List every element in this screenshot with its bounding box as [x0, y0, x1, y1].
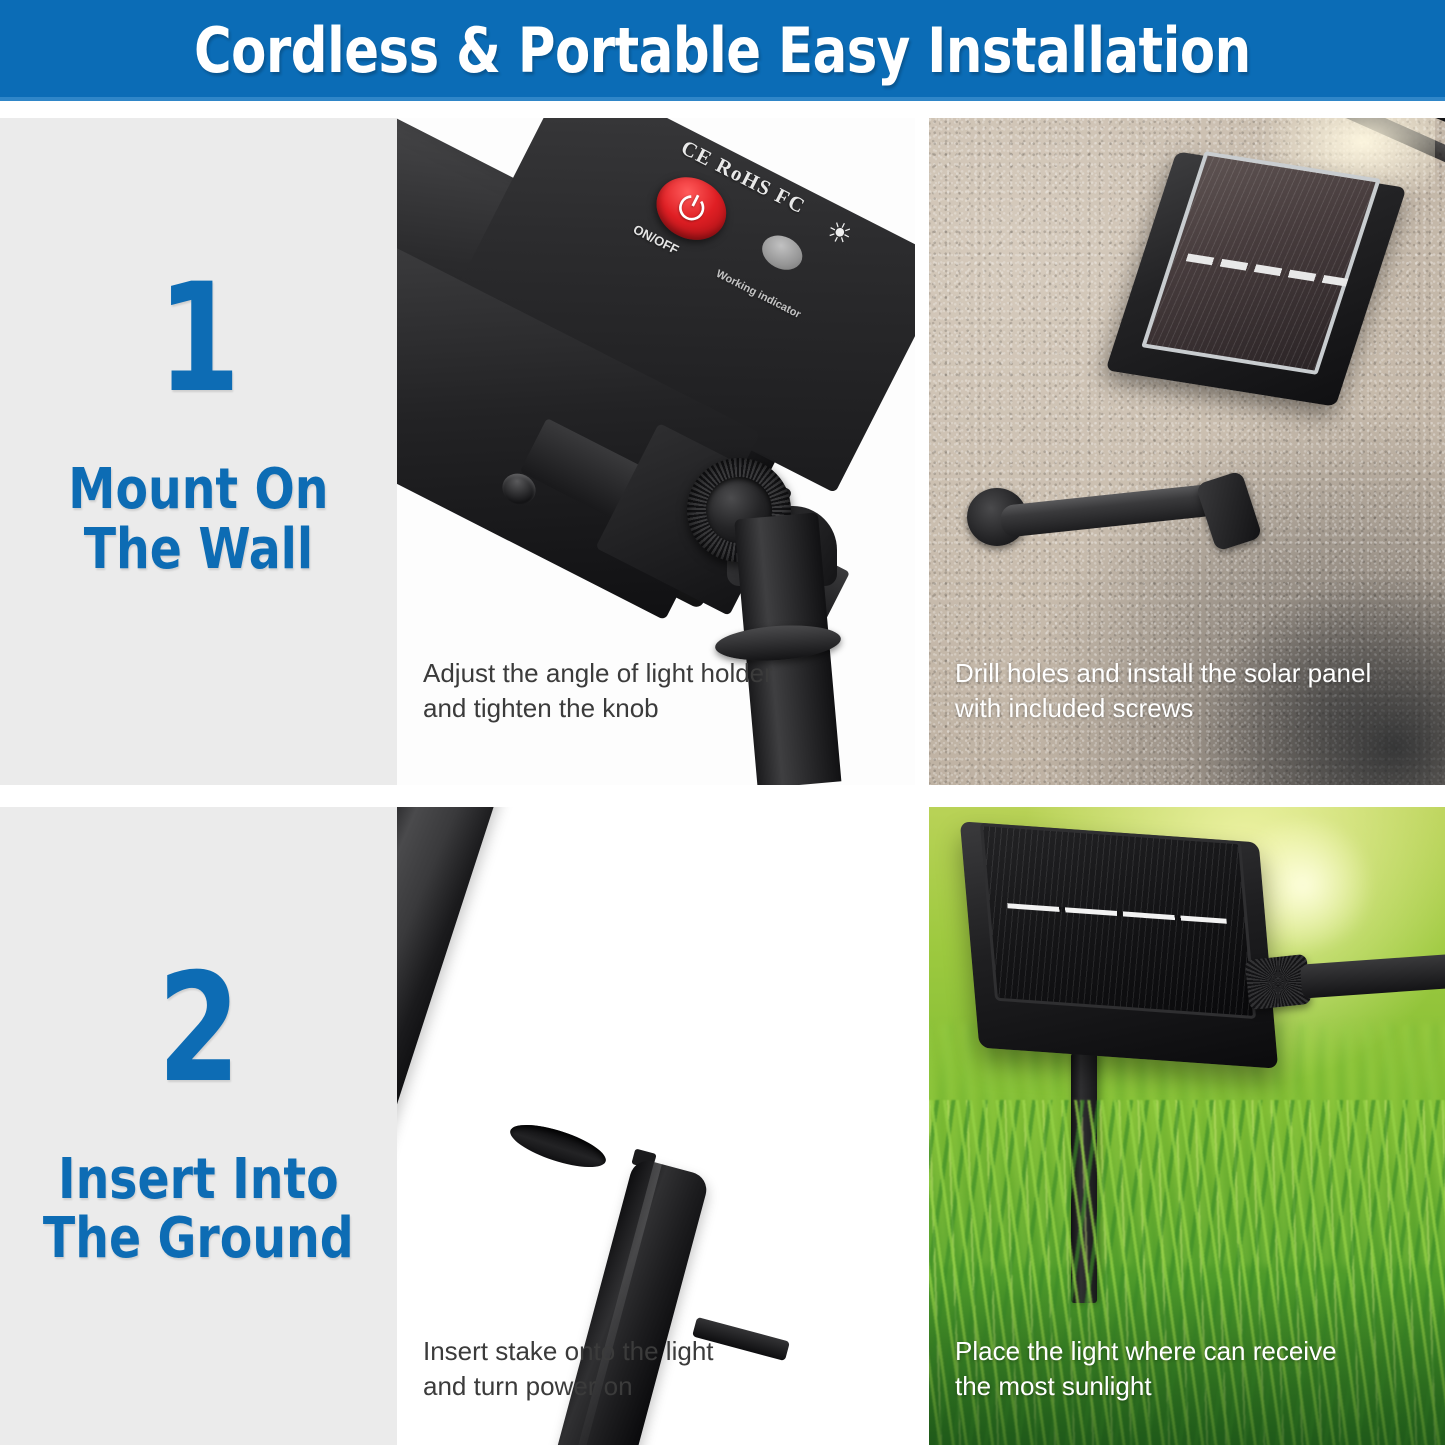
step-2-left-caption: Insert stake onto the light and turn pow… [423, 1334, 714, 1403]
photo-gap-1 [915, 118, 929, 785]
step-1-number: 1 [157, 264, 240, 414]
step-2-right-caption: Place the light where can receive the mo… [955, 1334, 1337, 1403]
pole-tube-opening [506, 1116, 610, 1175]
step-1-label-column: 1 Mount On The Wall [0, 118, 397, 785]
steps-grid: 1 Mount On The Wall CE RoHS [0, 118, 1445, 1445]
step-row-1: 1 Mount On The Wall CE RoHS [0, 118, 1445, 785]
step-1-right-photo: Drill holes and install the solar panel … [929, 118, 1445, 785]
step-2-number: 2 [157, 954, 240, 1104]
pole-tube-shape [397, 807, 506, 1178]
step-2-label-column: 2 Insert Into The Ground [0, 807, 397, 1445]
step-2-right-photo: Place the light where can receive the mo… [929, 807, 1445, 1445]
working-indicator-led [756, 229, 808, 277]
header-banner: Cordless & Portable Easy Installation [0, 0, 1445, 101]
step-1-left-photo: CE RoHS FC ⏻ ☀ ON/OFF Working indicator … [397, 118, 915, 785]
banner-separator [0, 101, 1445, 118]
power-icon: ⏻ [672, 187, 711, 230]
page-title: Cordless & Portable Easy Installation [194, 20, 1251, 82]
step-row-2: 2 Insert Into The Ground Insert stake on… [0, 807, 1445, 1445]
step-1-left-caption: Adjust the angle of light holder and tig… [423, 656, 773, 725]
photo-gap-2 [915, 807, 929, 1445]
sun-icon: ☀ [819, 213, 859, 253]
step-1-title: Mount On The Wall [68, 460, 328, 579]
step-2-left-photo: Insert stake onto the light and turn pow… [397, 807, 915, 1445]
infographic-page: Cordless & Portable Easy Installation 1 … [0, 0, 1445, 1445]
step-2-title: Insert Into The Ground [43, 1150, 354, 1269]
working-indicator-label: Working indicator [714, 268, 803, 321]
row-divider [0, 785, 1445, 807]
step-1-right-caption: Drill holes and install the solar panel … [955, 656, 1371, 725]
